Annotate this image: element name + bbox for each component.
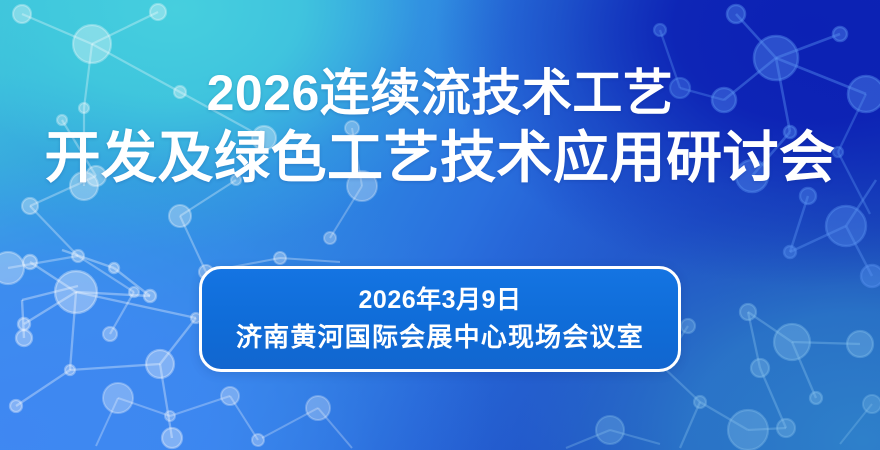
title-line-1: 2026连续流技术工艺 (0, 62, 880, 124)
event-date: 2026年3月9日 (359, 282, 522, 318)
event-info-box: 2026年3月9日 济南黄河国际会展中心现场会议室 (199, 266, 681, 372)
title-line-2: 开发及绿色工艺技术应用研讨会 (0, 124, 880, 192)
event-venue: 济南黄河国际会展中心现场会议室 (236, 318, 644, 356)
conference-banner: 2026连续流技术工艺 开发及绿色工艺技术应用研讨会 2026年3月9日 济南黄… (0, 0, 880, 450)
banner-title: 2026连续流技术工艺 开发及绿色工艺技术应用研讨会 (0, 62, 880, 192)
